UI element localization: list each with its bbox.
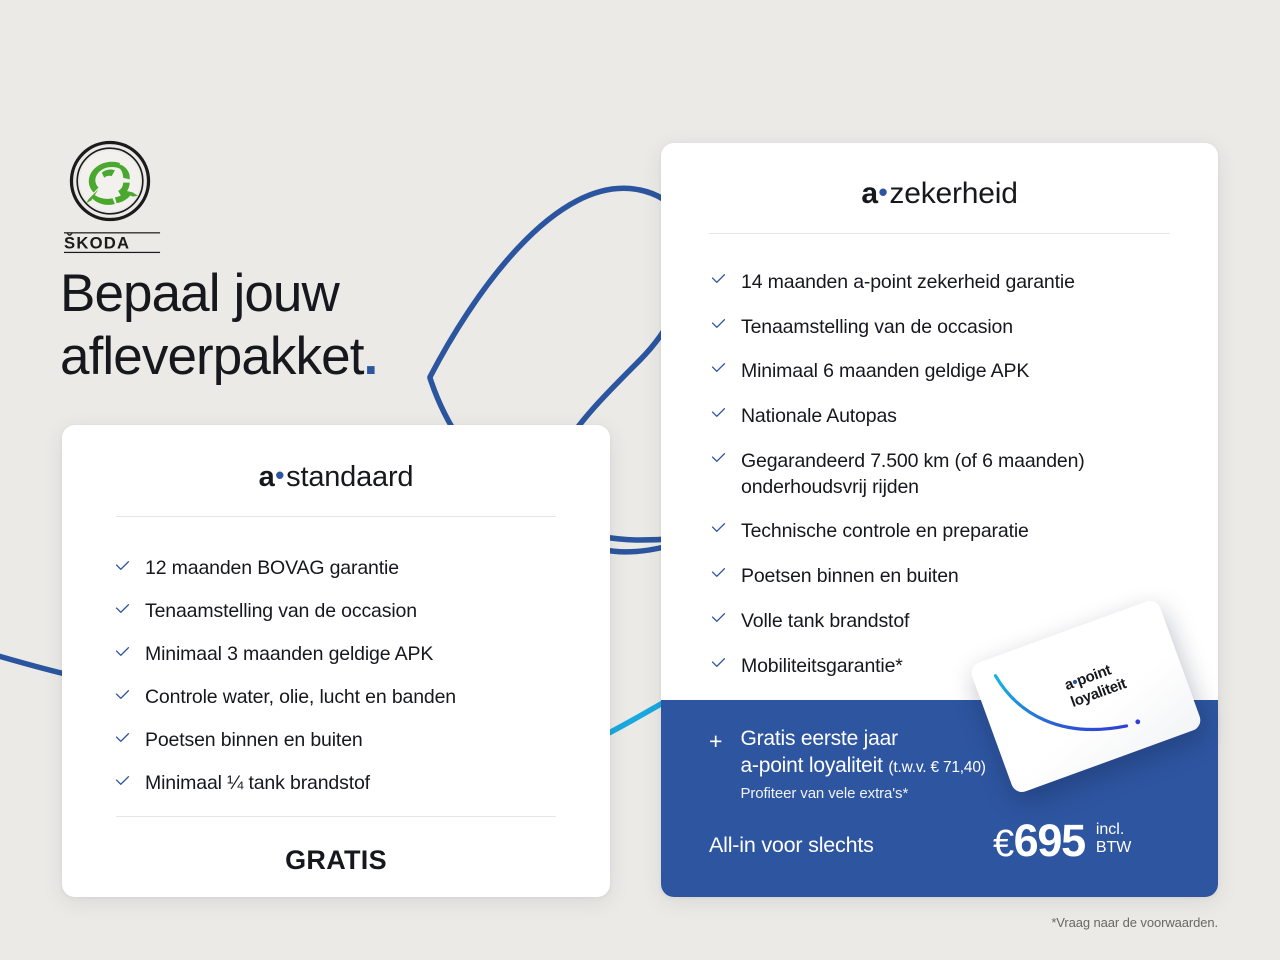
check-icon: [114, 686, 131, 708]
plus-icon: +: [709, 730, 722, 753]
page-title: Bepaal jouw afleverpakket.: [60, 262, 377, 388]
footnote-text: *Vraag naar de voorwaarden.: [1051, 915, 1218, 930]
check-icon: [710, 564, 727, 586]
list-item: Minimaal 3 maanden geldige APK: [114, 643, 610, 666]
feature-text: Poetsen binnen en buiten: [741, 564, 959, 590]
feature-text: 12 maanden BOVAG garantie: [145, 557, 399, 580]
skoda-wordmark: ŠKODA: [64, 232, 162, 259]
check-icon: [710, 519, 727, 541]
feature-text: Poetsen binnen en buiten: [145, 729, 363, 752]
price-suffix-line-2: BTW: [1096, 839, 1132, 857]
feature-text: Minimaal 6 maanden geldige APK: [741, 359, 1029, 385]
price-amount: 695: [1014, 815, 1085, 866]
list-item: Poetsen binnen en buiten: [114, 729, 610, 752]
feature-text: Mobiliteitsgarantie*: [741, 654, 903, 680]
list-item: 14 maanden a-point zekerheid garantie: [710, 270, 1188, 296]
feature-text: Volle tank brandstof: [741, 609, 909, 635]
poster-stage: ŠKODA Bepaal jouw afleverpakket. a•stand…: [0, 0, 1280, 960]
offer-line-1: Gratis eerste jaar: [740, 727, 985, 751]
price-value: €695: [993, 818, 1085, 863]
divider-top: [709, 233, 1170, 234]
check-icon: [710, 404, 727, 426]
offer-block: + Gratis eerste jaar a-point loyaliteit …: [709, 727, 986, 802]
check-icon: [710, 449, 727, 471]
list-item: Gegarandeerd 7.500 km (of 6 maanden) ond…: [710, 449, 1188, 500]
check-icon: [710, 359, 727, 381]
divider-bottom: [116, 816, 556, 817]
currency-symbol: €: [993, 823, 1014, 865]
svg-text:ŠKODA: ŠKODA: [64, 233, 130, 252]
feature-text: Nationale Autopas: [741, 404, 897, 430]
price-block: €695 incl. BTW: [993, 818, 1131, 863]
price-label-standaard: GRATIS: [62, 845, 610, 876]
check-icon: [114, 557, 131, 579]
feature-text: Gegarandeerd 7.500 km (of 6 maanden) ond…: [741, 449, 1188, 500]
feature-text: Controle water, olie, lucht en banden: [145, 686, 456, 709]
list-item: Minimaal 6 maanden geldige APK: [710, 359, 1188, 385]
list-item: Tenaamstelling van de occasion: [114, 600, 610, 623]
list-item: Controle water, olie, lucht en banden: [114, 686, 610, 709]
price-prefix-label: All-in voor slechts: [709, 833, 874, 858]
check-icon: [114, 600, 131, 622]
feature-list-standaard: 12 maanden BOVAG garantie Tenaamstelling…: [114, 557, 610, 795]
list-item: Poetsen binnen en buiten: [710, 564, 1188, 590]
check-icon: [710, 315, 727, 337]
offer-line-3: Profiteer van vele extra's*: [740, 785, 985, 802]
check-icon: [710, 654, 727, 676]
list-item: Nationale Autopas: [710, 404, 1188, 430]
list-item: Minimaal ¼ tank brandstof: [114, 772, 610, 795]
feature-text: Tenaamstelling van de occasion: [145, 600, 417, 623]
skoda-logo-icon: [69, 140, 151, 222]
package-card-zekerheid[interactable]: a•zekerheid 14 maanden a-point zekerheid…: [661, 143, 1218, 897]
card-title-dot: •: [878, 177, 890, 207]
check-icon: [114, 729, 131, 751]
card-title-a: a: [259, 461, 275, 493]
feature-text: Minimaal 3 maanden geldige APK: [145, 643, 433, 666]
feature-text: Tenaamstelling van de occasion: [741, 315, 1013, 341]
feature-text: Minimaal ¼ tank brandstof: [145, 772, 370, 795]
brand-block: ŠKODA: [62, 140, 162, 259]
price-suffix: incl. BTW: [1096, 821, 1132, 857]
divider-top: [116, 516, 556, 517]
check-icon: [710, 609, 727, 631]
card-title-dot: •: [274, 460, 286, 490]
offer-line-2-note: (t.w.v. € 71,40): [888, 759, 985, 776]
list-item: 12 maanden BOVAG garantie: [114, 557, 610, 580]
feature-text: Technische controle en preparatie: [741, 519, 1029, 545]
list-item: Tenaamstelling van de occasion: [710, 315, 1188, 341]
check-icon: [114, 772, 131, 794]
check-icon: [710, 270, 727, 292]
page-title-line-2: afleverpakket.: [60, 325, 377, 388]
card-title-rest: zekerheid: [889, 177, 1017, 210]
card-title-rest: standaard: [286, 461, 413, 493]
feature-text: 14 maanden a-point zekerheid garantie: [741, 270, 1075, 296]
offer-line-2: a-point loyaliteit (t.w.v. € 71,40): [740, 754, 985, 778]
package-card-standaard[interactable]: a•standaard 12 maanden BOVAG garantie Te…: [62, 425, 610, 897]
title-accent-dot: .: [364, 327, 378, 386]
offer-line-2-main: a-point loyaliteit: [740, 754, 882, 777]
card-title-standaard: a•standaard: [62, 461, 610, 494]
page-title-line-1: Bepaal jouw: [60, 262, 377, 325]
card-title-zekerheid: a•zekerheid: [661, 177, 1218, 211]
list-item: Technische controle en preparatie: [710, 519, 1188, 545]
price-suffix-line-1: incl.: [1096, 821, 1132, 839]
check-icon: [114, 643, 131, 665]
card-title-a: a: [861, 177, 877, 210]
